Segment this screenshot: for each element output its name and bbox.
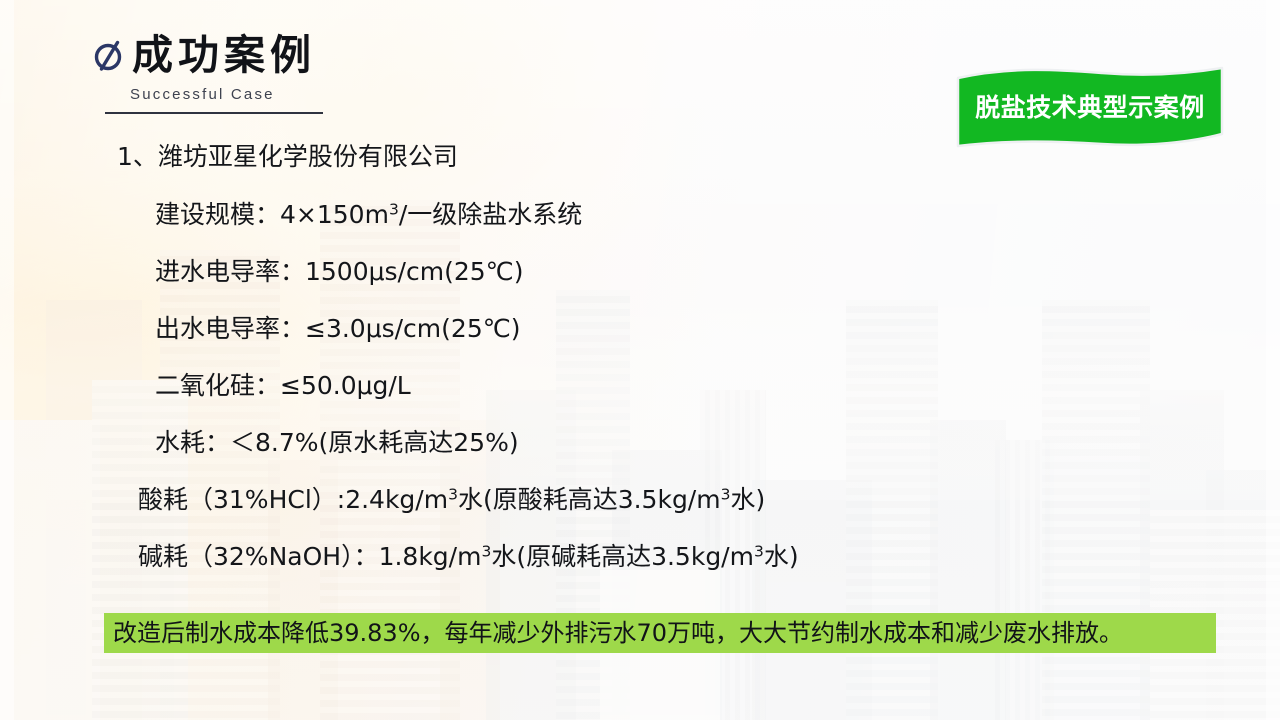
- spec-line-water-consumption: 水耗：＜8.7%(原水耗高达25%): [155, 430, 1280, 487]
- page-subtitle: Successful Case: [130, 86, 512, 103]
- alkali-part-1: 碱耗（32%NaOH）：1.8kg/m: [138, 542, 481, 571]
- alkali-part-3: 水): [764, 542, 799, 571]
- circle-slash-icon: [92, 36, 126, 76]
- alkali-superscript-2: 3: [754, 542, 764, 560]
- header-divider: [105, 112, 323, 114]
- case-detail-list: 1、潍坊亚星化学股份有限公司 建设规模：4×150m3/一级除盐水系统 进水电导…: [0, 144, 1280, 601]
- spec-line-alkali-consumption: 碱耗（32%NaOH）：1.8kg/m3水(原碱耗高达3.5kg/m3水): [138, 544, 1280, 601]
- spec-line-inlet-conductivity: 进水电导率：1500μs/cm(25℃): [155, 259, 1280, 316]
- section-ribbon-badge: 脱盐技术典型示案例: [952, 60, 1228, 152]
- ribbon-shape: [952, 60, 1228, 152]
- acid-part-3: 水): [730, 485, 765, 514]
- spec-scale-suffix: /一级除盐水系统: [399, 200, 582, 229]
- slide-canvas: 成功案例 Successful Case 脱盐技术典型示案例 1、潍坊亚星化学股…: [0, 0, 1280, 720]
- slide-header: 成功案例 Successful Case: [92, 34, 512, 114]
- acid-superscript-2: 3: [721, 485, 731, 503]
- title-row: 成功案例: [92, 34, 512, 77]
- spec-line-silica: 二氧化硅：≤50.0μg/L: [155, 373, 1280, 430]
- alkali-part-2: 水(原碱耗高达3.5kg/m: [491, 542, 754, 571]
- page-title: 成功案例: [132, 34, 316, 77]
- spec-scale-superscript: 3: [389, 200, 399, 218]
- case-heading: 1、潍坊亚星化学股份有限公司: [117, 144, 1280, 202]
- acid-superscript-1: 3: [448, 485, 458, 503]
- conclusion-text: 改造后制水成本降低39.83%，每年减少外排污水70万吨，大大节约制水成本和减少…: [113, 621, 1123, 645]
- acid-part-1: 酸耗（31%HCl）:2.4kg/m: [138, 485, 448, 514]
- spec-scale-prefix: 建设规模：4×150m: [155, 200, 389, 229]
- conclusion-highlight-bar: 改造后制水成本降低39.83%，每年减少外排污水70万吨，大大节约制水成本和减少…: [104, 613, 1216, 653]
- alkali-superscript-1: 3: [481, 542, 491, 560]
- spec-line-scale: 建设规模：4×150m3/一级除盐水系统: [155, 202, 1280, 259]
- spec-line-acid-consumption: 酸耗（31%HCl）:2.4kg/m3水(原酸耗高达3.5kg/m3水): [138, 487, 1280, 544]
- acid-part-2: 水(原酸耗高达3.5kg/m: [458, 485, 721, 514]
- spec-line-outlet-conductivity: 出水电导率：≤3.0μs/cm(25℃): [155, 316, 1280, 373]
